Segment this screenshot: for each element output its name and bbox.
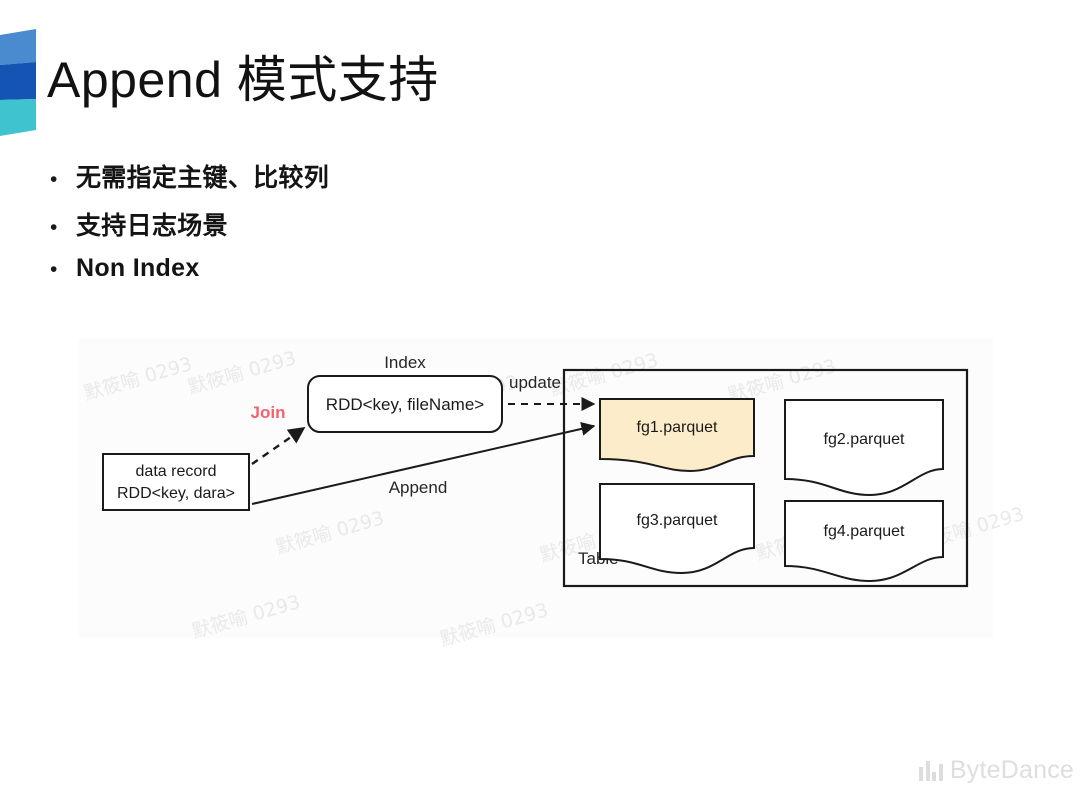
list-item: • Non Index: [50, 254, 650, 302]
index-label: Index: [384, 353, 426, 372]
list-item: • 无需指定主键、比较列: [50, 158, 650, 206]
file-label-fg2: fg2.parquet: [824, 431, 906, 448]
bar-chart-icon: [919, 761, 943, 781]
bullet-marker: •: [50, 169, 76, 190]
data-record-line1: data record: [136, 463, 217, 480]
data-record-line2: RDD<key, dara>: [117, 485, 235, 502]
bullet-marker: •: [50, 217, 76, 238]
page-title: Append 模式支持: [47, 52, 439, 110]
bullet-list: • 无需指定主键、比较列 • 支持日志场景 • Non Index: [50, 158, 650, 302]
update-label: update: [509, 373, 561, 392]
brand-logo-mark: [0, 29, 42, 136]
join-arrow: [252, 428, 304, 464]
bullet-label: 无需指定主键、比较列: [76, 158, 329, 194]
file-label-fg3: fg3.parquet: [637, 512, 719, 529]
bullet-marker: •: [50, 259, 76, 280]
list-item: • 支持日志场景: [50, 206, 650, 254]
bytedance-footer-logo: ByteDance: [919, 756, 1074, 785]
join-label: Join: [251, 403, 286, 422]
bytedance-wordmark: ByteDance: [950, 756, 1074, 785]
diagram-canvas: Index RDD<key, fileName> data record RDD…: [78, 338, 993, 638]
architecture-diagram: 默筱喻 0293 默筱喻 0293 默筱喻 0293 默筱喻 0293 默筱喻 …: [78, 338, 993, 638]
bullet-label: 支持日志场景: [76, 206, 228, 242]
append-label: Append: [389, 478, 448, 497]
file-label-fg1: fg1.parquet: [637, 419, 719, 436]
file-label-fg4: fg4.parquet: [824, 523, 906, 540]
index-box-label: RDD<key, fileName>: [326, 395, 484, 414]
bullet-label: Non Index: [76, 254, 200, 283]
